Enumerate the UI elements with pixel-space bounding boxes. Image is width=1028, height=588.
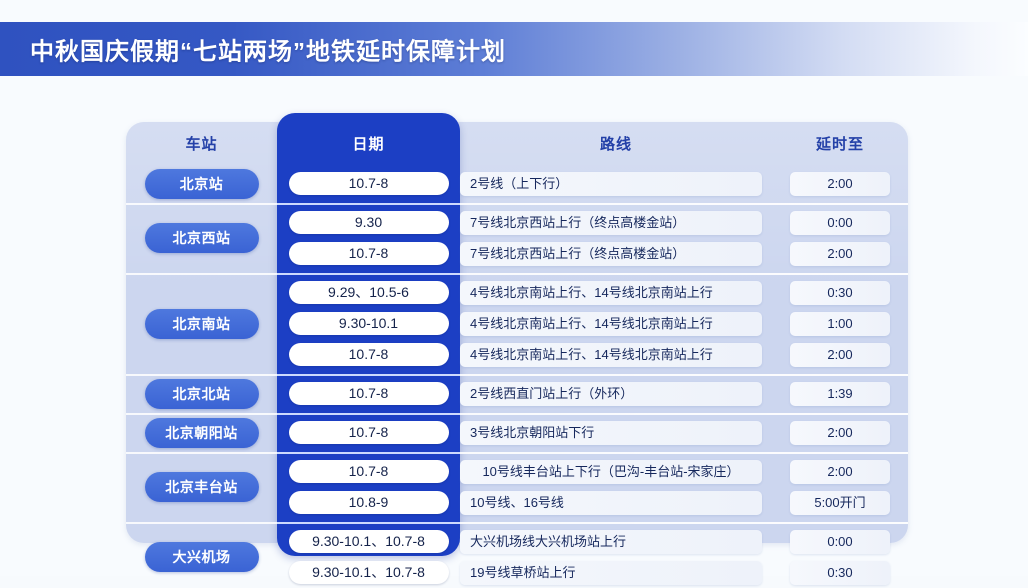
route-cell: 4号线北京南站上行、14号线北京南站上行 <box>460 339 772 370</box>
route-pill[interactable]: 10号线、16号线 <box>460 491 762 515</box>
route-cell: 19号线草桥站上行 <box>460 557 772 588</box>
table-row: 10.7-810号线丰台站上下行（巴沟-丰台站-宋家庄）2:00 <box>126 456 908 487</box>
date-cell: 10.7-8 <box>277 339 460 370</box>
delay-cell: 2:00 <box>772 339 908 370</box>
date-cell: 10.7-8 <box>277 238 460 269</box>
route-cell: 10号线丰台站上下行（巴沟-丰台站-宋家庄） <box>460 456 772 487</box>
table-row: 9.30-10.1、10.7-819号线草桥站上行0:30 <box>126 557 908 588</box>
route-pill[interactable]: 19号线草桥站上行 <box>460 561 762 585</box>
date-pill[interactable]: 10.7-8 <box>289 460 449 483</box>
station-group: 北京丰台站10.7-810号线丰台站上下行（巴沟-丰台站-宋家庄）2:0010.… <box>126 456 908 518</box>
group-separator-date-segment <box>277 413 460 415</box>
delay-cell: 5:00开门 <box>772 487 908 518</box>
delay-cell: 1:39 <box>772 378 908 409</box>
delay-cell: 2:00 <box>772 238 908 269</box>
group-separator-date-segment <box>277 374 460 376</box>
date-cell: 10.7-8 <box>277 168 460 199</box>
date-cell: 9.29、10.5-6 <box>277 277 460 308</box>
group-separator <box>126 452 908 454</box>
route-pill[interactable]: 10号线丰台站上下行（巴沟-丰台站-宋家庄） <box>460 460 762 484</box>
date-pill[interactable]: 10.8-9 <box>289 491 449 514</box>
date-pill[interactable]: 10.7-8 <box>289 172 449 195</box>
route-pill[interactable]: 4号线北京南站上行、14号线北京南站上行 <box>460 281 762 305</box>
route-pill[interactable]: 7号线北京西站上行（终点高楼金站） <box>460 211 762 235</box>
date-cell: 9.30-10.1、10.7-8 <box>277 526 460 557</box>
route-cell: 4号线北京南站上行、14号线北京南站上行 <box>460 308 772 339</box>
date-cell: 10.8-9 <box>277 487 460 518</box>
title-banner: 中秋国庆假期“七站两场”地铁延时保障计划 <box>0 22 1028 76</box>
route-cell: 7号线北京西站上行（终点高楼金站） <box>460 207 772 238</box>
table-row: 10.7-84号线北京南站上行、14号线北京南站上行2:00 <box>126 339 908 370</box>
table-header-row: 车站 日期 路线 延时至 <box>126 122 908 168</box>
table-row: 9.307号线北京西站上行（终点高楼金站）0:00 <box>126 207 908 238</box>
delay-pill[interactable]: 1:00 <box>790 312 890 336</box>
date-cell: 10.7-8 <box>277 417 460 448</box>
column-header-date: 日期 <box>277 122 460 168</box>
group-separator <box>126 522 908 524</box>
delay-cell: 0:30 <box>772 557 908 588</box>
date-cell: 9.30 <box>277 207 460 238</box>
date-pill[interactable]: 9.30-10.1 <box>289 312 449 335</box>
date-cell: 10.7-8 <box>277 378 460 409</box>
delay-cell: 2:00 <box>772 417 908 448</box>
group-separator <box>126 273 908 275</box>
route-cell: 4号线北京南站上行、14号线北京南站上行 <box>460 277 772 308</box>
page-title: 中秋国庆假期“七站两场”地铁延时保障计划 <box>30 32 506 67</box>
group-separator-date-segment <box>277 273 460 275</box>
station-group: 北京北站10.7-82号线西直门站上行（外环）1:39 <box>126 378 908 409</box>
date-cell: 9.30-10.1 <box>277 308 460 339</box>
poster-page: 中秋国庆假期“七站两场”地铁延时保障计划 车站 日期 路线 延时至 北京站10.… <box>0 0 1028 576</box>
date-pill[interactable]: 10.7-8 <box>289 421 449 444</box>
delay-cell: 1:00 <box>772 308 908 339</box>
table-row: 10.7-87号线北京西站上行（终点高楼金站）2:00 <box>126 238 908 269</box>
table-row: 10.8-910号线、16号线5:00开门 <box>126 487 908 518</box>
route-cell: 7号线北京西站上行（终点高楼金站） <box>460 238 772 269</box>
delay-pill[interactable]: 0:00 <box>790 211 890 235</box>
station-group: 北京朝阳站10.7-83号线北京朝阳站下行2:00 <box>126 417 908 448</box>
group-separator <box>126 374 908 376</box>
group-separator-date-segment <box>277 522 460 524</box>
route-pill[interactable]: 4号线北京南站上行、14号线北京南站上行 <box>460 343 762 367</box>
date-cell: 9.30-10.1、10.7-8 <box>277 557 460 588</box>
table-row: 9.30-10.1、10.7-8大兴机场线大兴机场站上行0:00 <box>126 526 908 557</box>
table-row: 9.29、10.5-64号线北京南站上行、14号线北京南站上行0:30 <box>126 277 908 308</box>
delay-pill[interactable]: 1:39 <box>790 382 890 406</box>
column-header-route: 路线 <box>460 122 772 168</box>
route-cell: 2号线（上下行） <box>460 168 772 199</box>
column-header-station: 车站 <box>126 122 277 168</box>
delay-pill[interactable]: 0:30 <box>790 561 890 585</box>
date-pill[interactable]: 10.7-8 <box>289 343 449 366</box>
station-group: 北京西站9.307号线北京西站上行（终点高楼金站）0:0010.7-87号线北京… <box>126 207 908 269</box>
table-row: 10.7-82号线西直门站上行（外环）1:39 <box>126 378 908 409</box>
route-cell: 大兴机场线大兴机场站上行 <box>460 526 772 557</box>
delay-cell: 0:00 <box>772 526 908 557</box>
delay-pill[interactable]: 0:00 <box>790 530 890 554</box>
delay-cell: 0:30 <box>772 277 908 308</box>
delay-pill[interactable]: 2:00 <box>790 242 890 266</box>
route-pill[interactable]: 2号线（上下行） <box>460 172 762 196</box>
group-separator <box>126 413 908 415</box>
date-pill[interactable]: 9.30-10.1、10.7-8 <box>289 561 449 584</box>
date-pill[interactable]: 9.29、10.5-6 <box>289 281 449 304</box>
delay-cell: 2:00 <box>772 456 908 487</box>
route-cell: 3号线北京朝阳站下行 <box>460 417 772 448</box>
table-row: 10.7-83号线北京朝阳站下行2:00 <box>126 417 908 448</box>
route-pill[interactable]: 4号线北京南站上行、14号线北京南站上行 <box>460 312 762 336</box>
route-pill[interactable]: 大兴机场线大兴机场站上行 <box>460 530 762 554</box>
date-pill[interactable]: 10.7-8 <box>289 242 449 265</box>
group-separator <box>126 203 908 205</box>
delay-pill[interactable]: 2:00 <box>790 343 890 367</box>
date-cell: 10.7-8 <box>277 456 460 487</box>
station-group: 北京站10.7-82号线（上下行）2:00 <box>126 168 908 199</box>
route-pill[interactable]: 3号线北京朝阳站下行 <box>460 421 762 445</box>
schedule-table: 车站 日期 路线 延时至 北京站10.7-82号线（上下行）2:00北京西站9.… <box>126 122 908 543</box>
delay-cell: 2:00 <box>772 168 908 199</box>
group-separator-date-segment <box>277 452 460 454</box>
route-cell: 10号线、16号线 <box>460 487 772 518</box>
table-row: 9.30-10.14号线北京南站上行、14号线北京南站上行1:00 <box>126 308 908 339</box>
station-group: 北京南站9.29、10.5-64号线北京南站上行、14号线北京南站上行0:309… <box>126 277 908 370</box>
delay-pill[interactable]: 2:00 <box>790 460 890 484</box>
route-pill[interactable]: 2号线西直门站上行（外环） <box>460 382 762 406</box>
route-pill[interactable]: 7号线北京西站上行（终点高楼金站） <box>460 242 762 266</box>
delay-pill[interactable]: 2:00 <box>790 421 890 445</box>
group-separator-date-segment <box>277 203 460 205</box>
date-pill[interactable]: 9.30-10.1、10.7-8 <box>289 530 449 553</box>
station-group: 大兴机场9.30-10.1、10.7-8大兴机场线大兴机场站上行0:009.30… <box>126 526 908 588</box>
route-cell: 2号线西直门站上行（外环） <box>460 378 772 409</box>
delay-cell: 0:00 <box>772 207 908 238</box>
delay-pill[interactable]: 0:30 <box>790 281 890 305</box>
date-pill[interactable]: 9.30 <box>289 211 449 234</box>
date-pill[interactable]: 10.7-8 <box>289 382 449 405</box>
column-header-delay: 延时至 <box>772 122 908 168</box>
delay-pill[interactable]: 5:00开门 <box>790 491 890 515</box>
table-row: 10.7-82号线（上下行）2:00 <box>126 168 908 199</box>
delay-pill[interactable]: 2:00 <box>790 172 890 196</box>
